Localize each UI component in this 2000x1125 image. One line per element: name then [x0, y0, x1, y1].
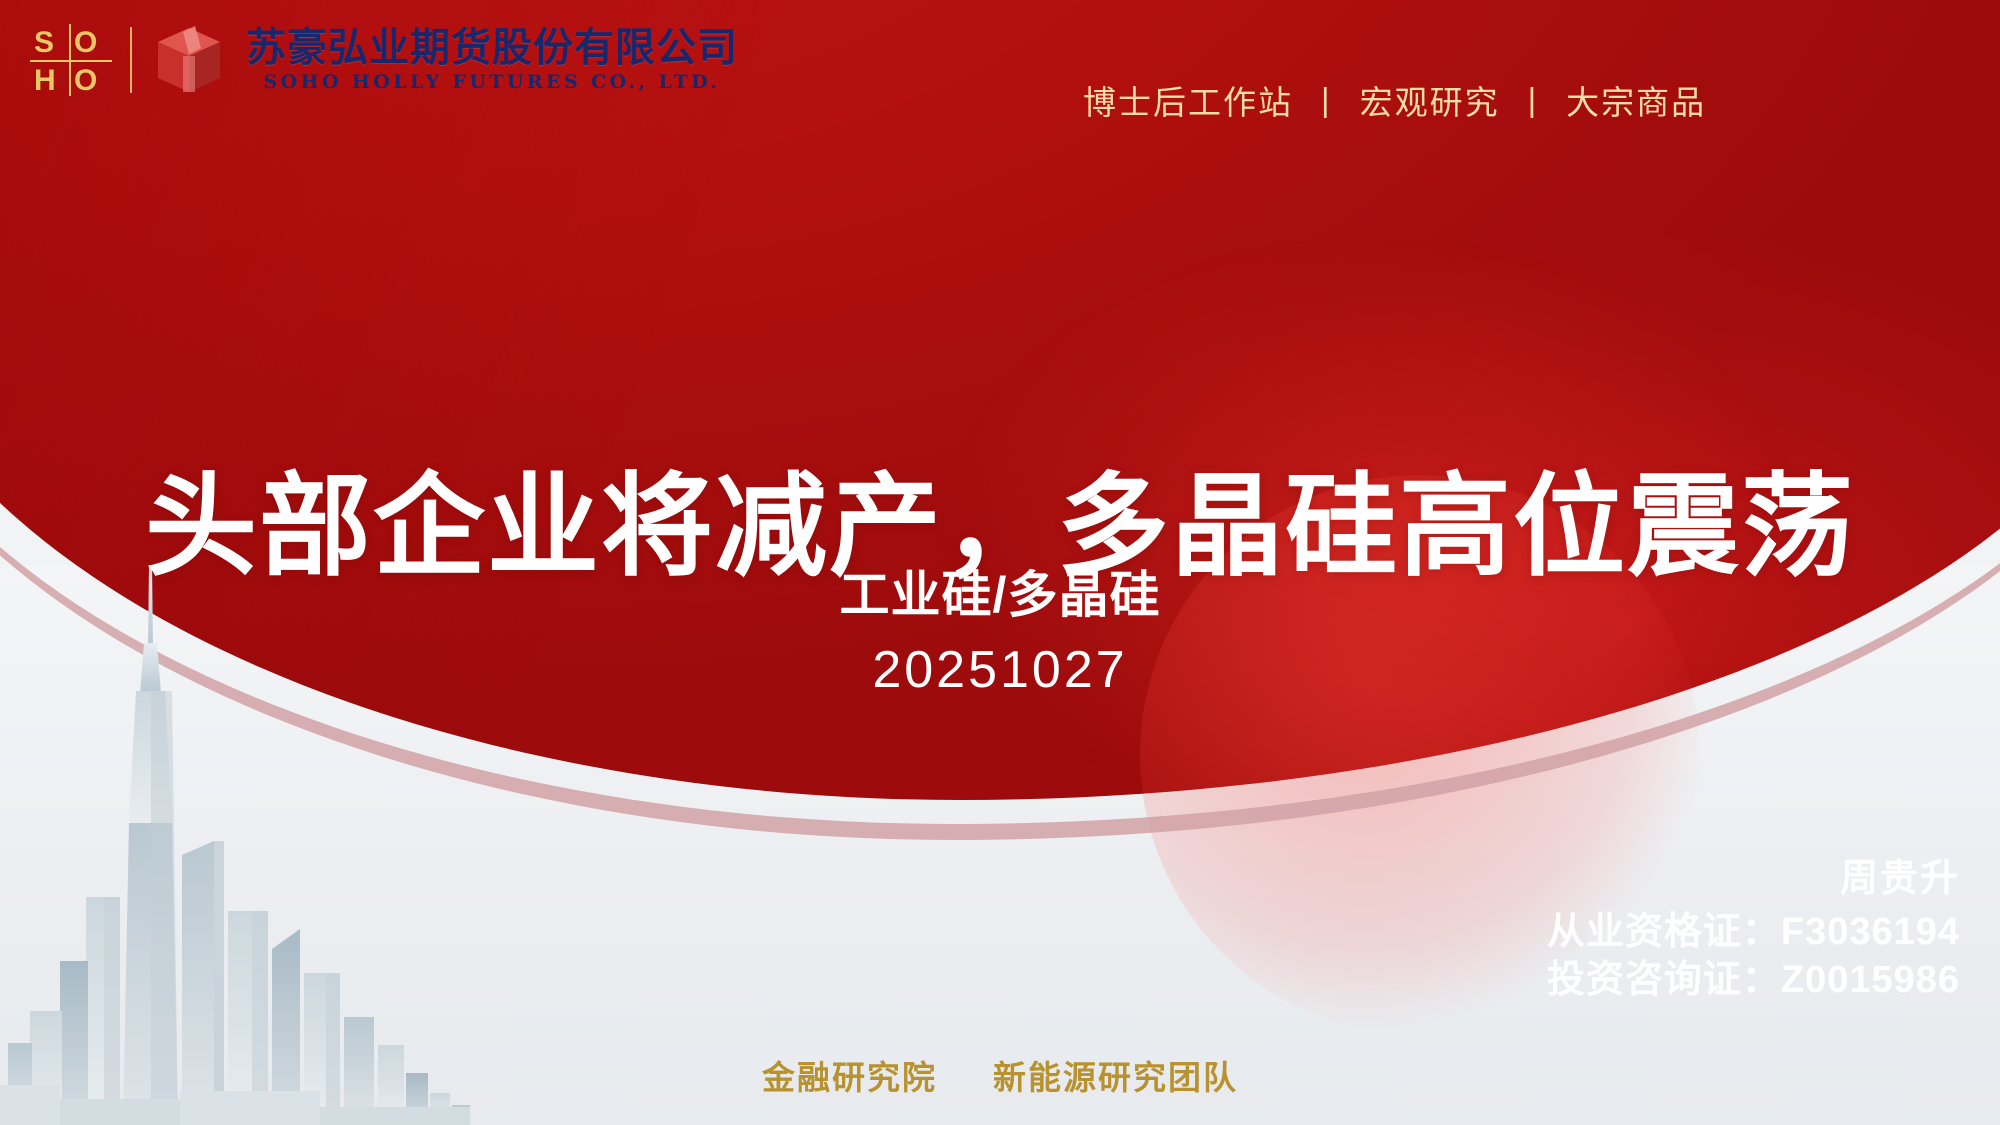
- company-name-en: SOHO HOLLY FUTURES CO., LTD.: [246, 71, 738, 93]
- monogram-horizontal-rule: [30, 60, 112, 62]
- nav-item-commodities[interactable]: 大宗商品: [1558, 76, 1714, 124]
- red-gift-cube-icon: [150, 22, 228, 98]
- slide-footer: 金融研究院 新能源研究团队: [0, 1051, 2000, 1099]
- soho-monogram-icon: S O H O: [30, 24, 112, 96]
- nav-item-postdoc-station[interactable]: 博士后工作站: [1075, 76, 1301, 124]
- logo-divider: [130, 27, 132, 93]
- brand-logo[interactable]: S O H O 苏豪弘业期货股份有限公司 SOHO HOLLY FUTURES …: [30, 22, 738, 98]
- footer-item-team: 新能源研究团队: [993, 1051, 1238, 1099]
- slide-date: 20251027: [0, 640, 2000, 700]
- header-nav: 博士后工作站 | 宏观研究 | 大宗商品: [1075, 76, 1714, 124]
- company-name-cn: 苏豪弘业期货股份有限公司: [246, 27, 738, 69]
- monogram-letter-1: S: [34, 28, 53, 58]
- nav-item-macro-research[interactable]: 宏观研究: [1352, 76, 1508, 124]
- monogram-letter-3: H: [34, 66, 55, 96]
- monogram-letter-2: O: [74, 28, 96, 58]
- author-practice-license: 从业资格证：F3036194: [1547, 908, 1960, 957]
- slide-subtitle: 工业硅/多晶硅: [0, 555, 2000, 627]
- author-consulting-license: 投资咨询证：Z0015986: [1547, 956, 1960, 1005]
- monogram-letter-4: O: [74, 66, 96, 96]
- nav-separator-1: |: [1301, 81, 1352, 119]
- author-credentials: 周贵升 从业资格证：F3036194 投资咨询证：Z0015986: [1547, 855, 1960, 1005]
- footer-item-institute: 金融研究院: [762, 1051, 937, 1099]
- company-name-block: 苏豪弘业期货股份有限公司 SOHO HOLLY FUTURES CO., LTD…: [246, 27, 738, 93]
- author-name: 周贵升: [1547, 855, 1960, 904]
- title-slide: S O H O 苏豪弘业期货股份有限公司 SOHO HOLLY FUTURES …: [0, 0, 2000, 1125]
- nav-separator-2: |: [1508, 81, 1559, 119]
